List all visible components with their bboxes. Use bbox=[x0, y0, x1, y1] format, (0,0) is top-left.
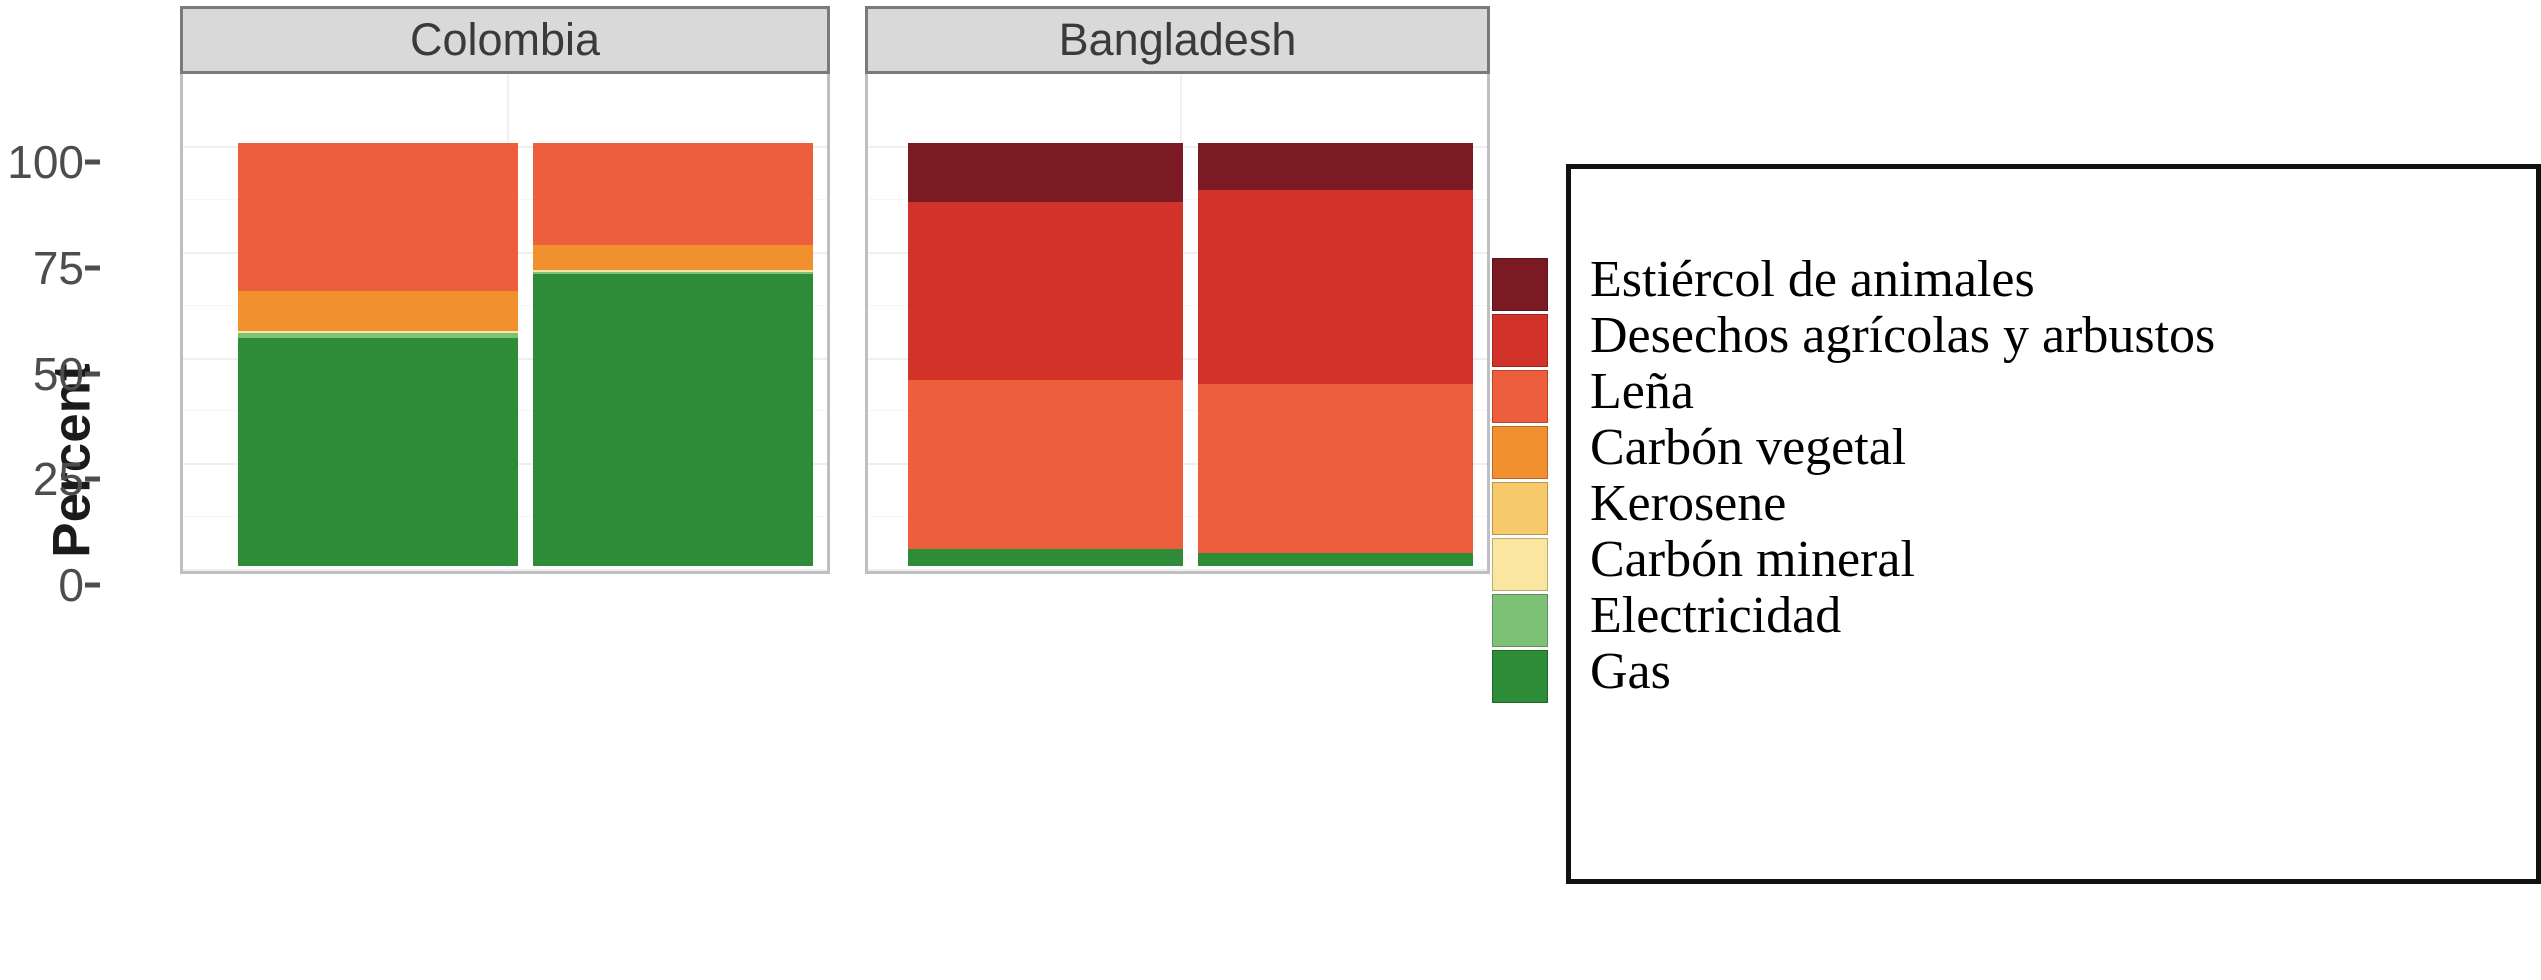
legend-key-swatch[interactable] bbox=[1492, 314, 1548, 367]
legend-item-label[interactable]: Carbón vegetal bbox=[1590, 420, 2215, 476]
legend-key-swatch[interactable] bbox=[1492, 370, 1548, 423]
legend-key-swatch[interactable] bbox=[1492, 594, 1548, 647]
legend-key-group bbox=[1492, 258, 1548, 706]
plot-area bbox=[180, 74, 830, 574]
bar-segment bbox=[908, 202, 1183, 380]
bar-segment bbox=[908, 549, 1183, 566]
bar-segment bbox=[1198, 190, 1473, 385]
y-axis-tick-label: 25 bbox=[33, 452, 84, 506]
bar-segment bbox=[238, 338, 518, 566]
y-axis-tick-label: 100 bbox=[7, 135, 84, 189]
bar-segment bbox=[1198, 143, 1473, 190]
bar-segment bbox=[533, 274, 813, 566]
gridline-major bbox=[183, 569, 827, 571]
y-axis-tick-group: 1007550250 bbox=[0, 90, 104, 586]
chart-root: Percent 1007550250 ColombiaBangladesh Es… bbox=[0, 0, 2541, 980]
facet-panel-bangladesh: Bangladesh bbox=[865, 6, 1490, 574]
facet-strip-label: Bangladesh bbox=[1059, 14, 1297, 66]
y-axis-tick-label: 0 bbox=[58, 558, 84, 612]
bar-segment bbox=[908, 143, 1183, 202]
y-axis-tick-label: 75 bbox=[33, 241, 84, 295]
bar-segment bbox=[238, 143, 518, 291]
bar-segment bbox=[533, 143, 813, 245]
stacked-bar bbox=[533, 143, 813, 566]
stacked-bar bbox=[908, 143, 1183, 566]
y-axis-tick-mark bbox=[85, 477, 100, 482]
legend-label-group: Estiércol de animalesDesechos agrícolas … bbox=[1590, 252, 2215, 700]
bar-segment bbox=[1198, 553, 1473, 566]
legend-item-label[interactable]: Leña bbox=[1590, 364, 2215, 420]
legend-item-label[interactable]: Estiércol de animales bbox=[1590, 252, 2215, 308]
gridline-major bbox=[868, 569, 1487, 571]
legend-key-swatch[interactable] bbox=[1492, 258, 1548, 311]
facet-strip-label: Colombia bbox=[410, 14, 600, 66]
legend-item-label[interactable]: Desechos agrícolas y arbustos bbox=[1590, 308, 2215, 364]
bar-segment bbox=[238, 291, 518, 331]
bar-segment bbox=[908, 380, 1183, 549]
legend-key-swatch[interactable] bbox=[1492, 538, 1548, 591]
y-axis-tick-label: 50 bbox=[33, 347, 84, 401]
facet-strip: Bangladesh bbox=[865, 6, 1490, 74]
y-axis-tick-mark bbox=[85, 265, 100, 270]
legend-key-swatch[interactable] bbox=[1492, 426, 1548, 479]
legend-item-label[interactable]: Electricidad bbox=[1590, 588, 2215, 644]
bar-segment bbox=[533, 245, 813, 270]
facet-panel-colombia: Colombia bbox=[180, 6, 830, 574]
stacked-bar bbox=[1198, 143, 1473, 566]
legend-item-label[interactable]: Gas bbox=[1590, 644, 2215, 700]
bar-segment bbox=[1198, 384, 1473, 553]
facet-strip: Colombia bbox=[180, 6, 830, 74]
y-axis-tick-mark bbox=[85, 160, 100, 165]
legend-item-label[interactable]: Kerosene bbox=[1590, 476, 2215, 532]
plot-area bbox=[865, 74, 1490, 574]
y-axis-tick-mark bbox=[85, 371, 100, 376]
legend-item-label[interactable]: Carbón mineral bbox=[1590, 532, 2215, 588]
legend-key-swatch[interactable] bbox=[1492, 482, 1548, 535]
legend-key-swatch[interactable] bbox=[1492, 650, 1548, 703]
stacked-bar bbox=[238, 143, 518, 566]
y-axis-tick-mark bbox=[85, 583, 100, 588]
